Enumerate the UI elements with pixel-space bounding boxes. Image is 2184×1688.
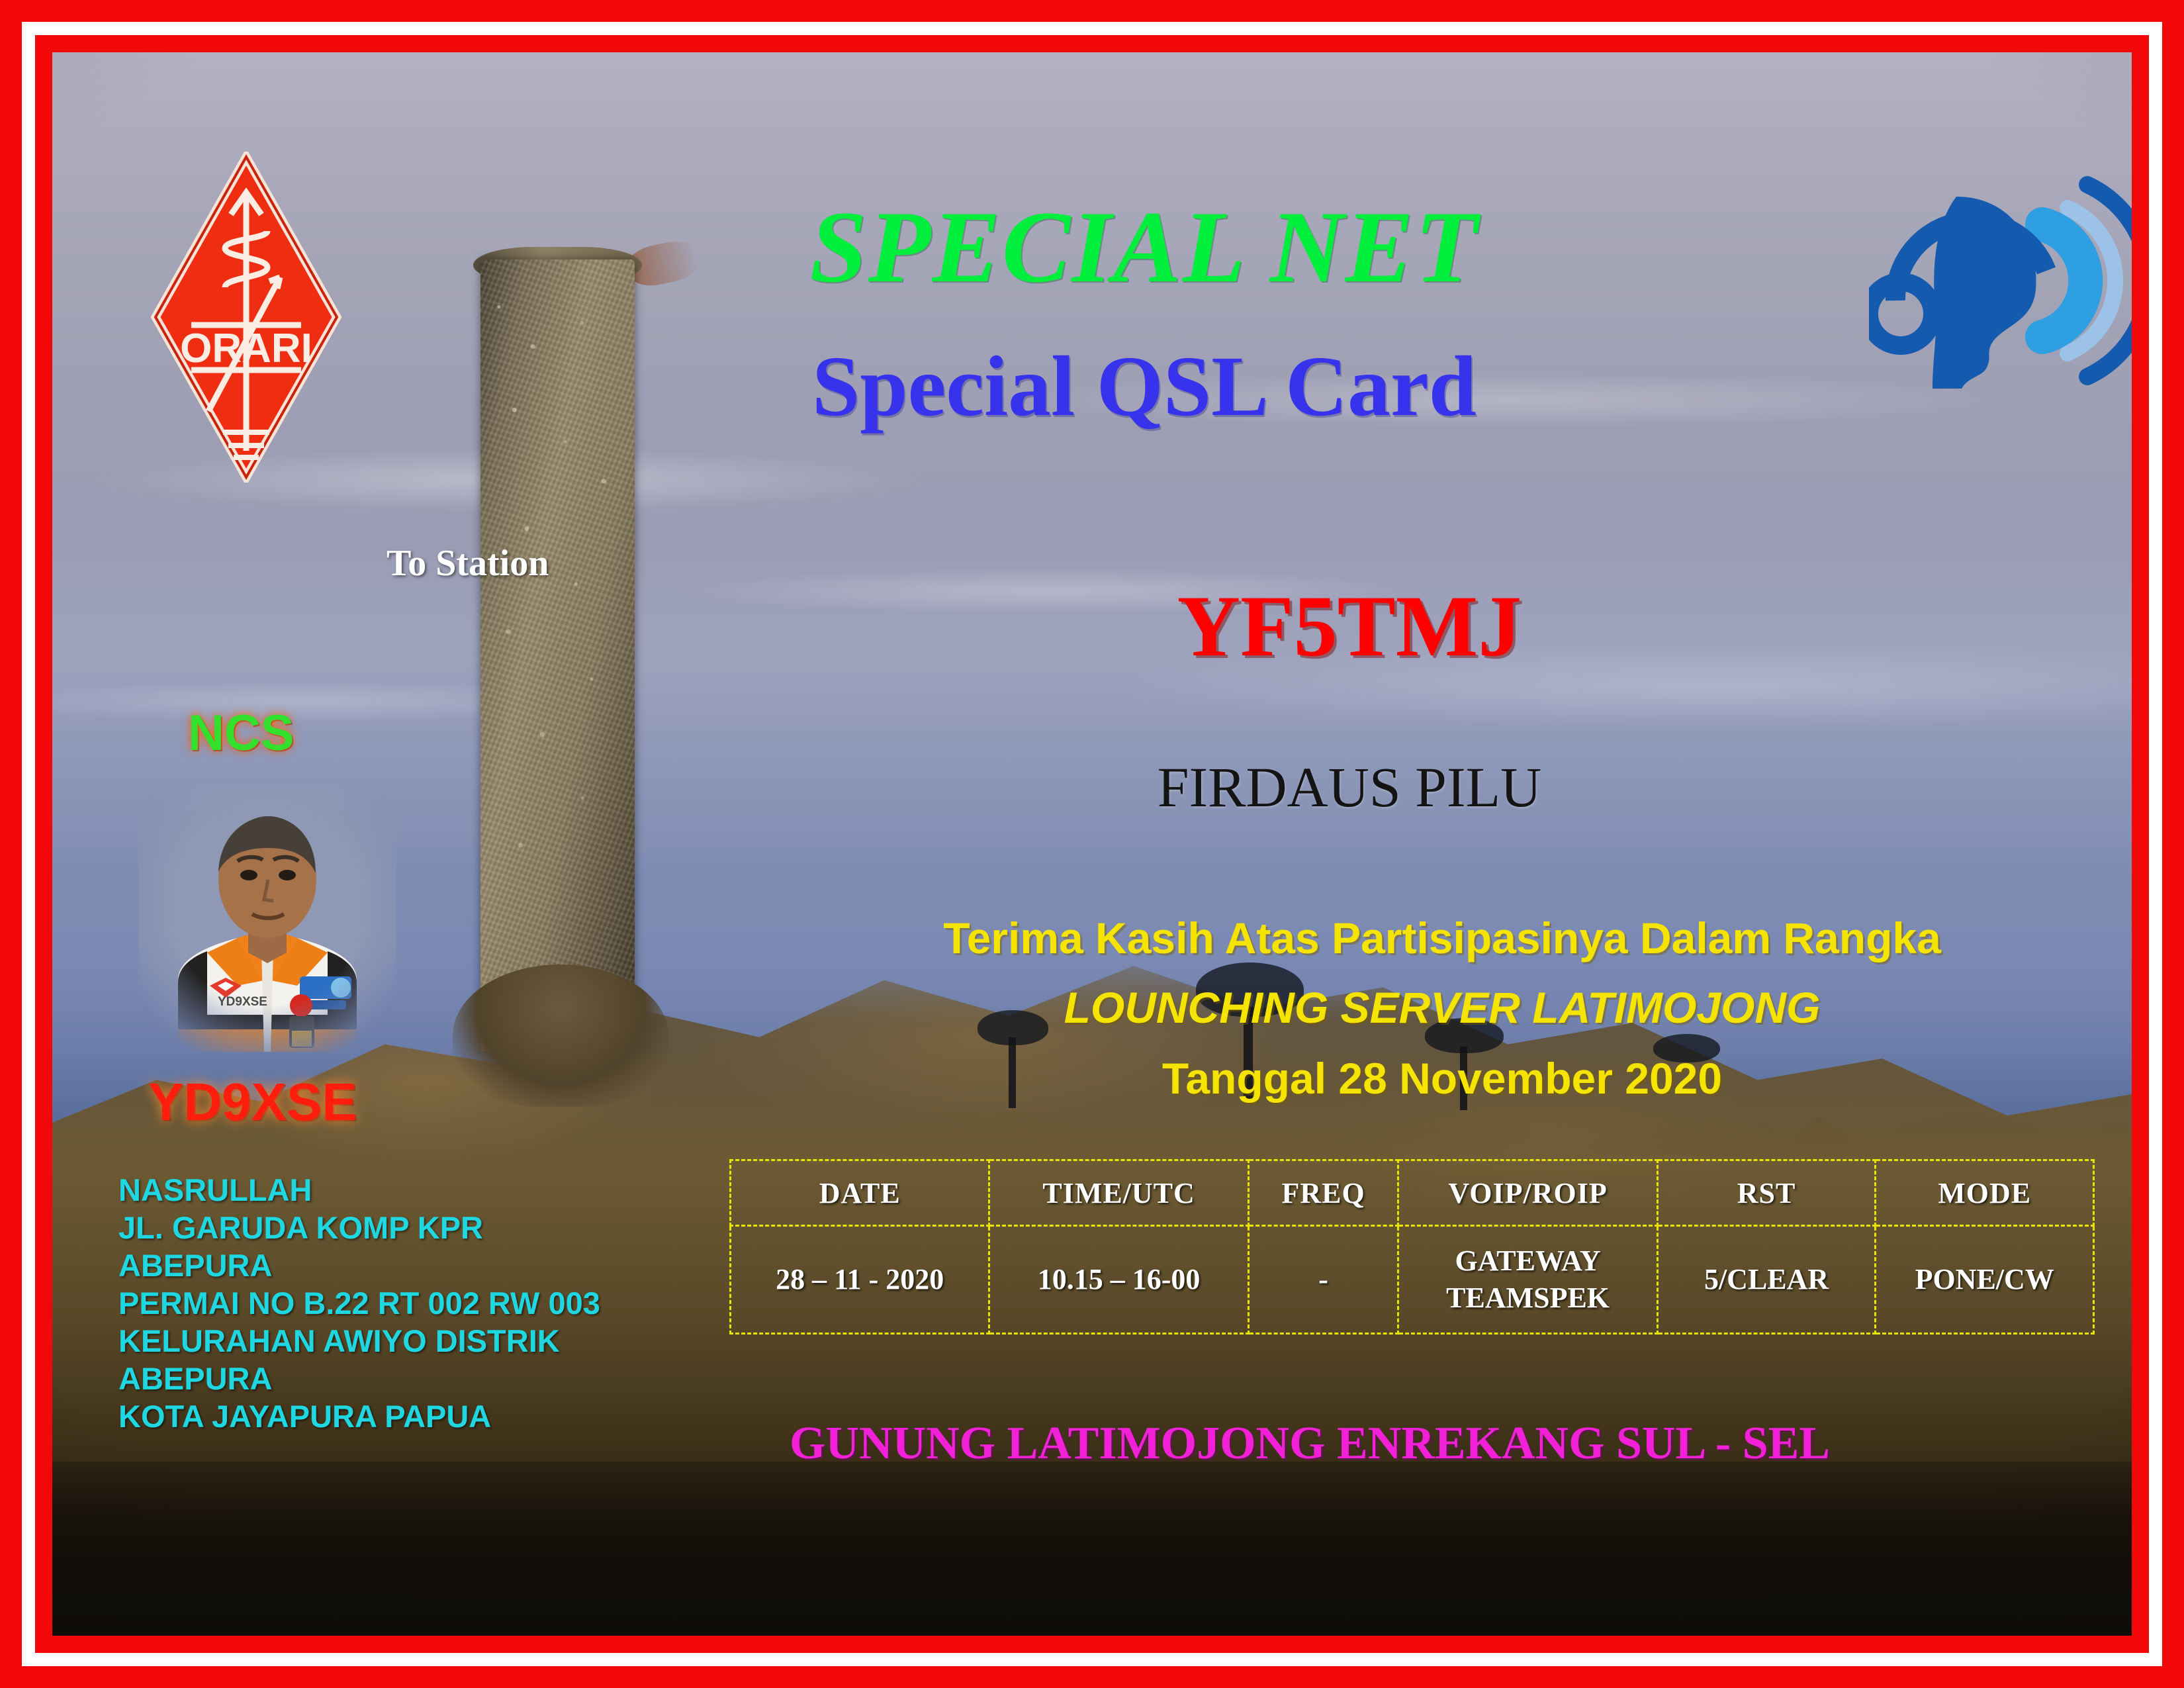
- thanks-line-1: Terima Kasih Atas Partisipasinya Dalam R…: [794, 913, 2091, 963]
- column-header-time: TIME/UTC: [989, 1160, 1248, 1226]
- thanks-line-3: Tanggal 28 November 2020: [794, 1053, 2091, 1103]
- cell-date: 28 – 11 - 2020: [731, 1226, 989, 1334]
- address-line: NASRULLAH: [118, 1171, 714, 1209]
- address-line: ABEPURA: [118, 1360, 714, 1397]
- address-line: PERMAI NO B.22 RT 002 RW 003: [118, 1284, 714, 1322]
- mailing-address: NASRULLAH JL. GARUDA KOMP KPR ABEPURA PE…: [118, 1171, 714, 1435]
- cell-voip-roip-line1: GATEWAY: [1399, 1243, 1656, 1280]
- website-address: Address : amatir.latimojong.com: [1330, 1631, 1997, 1636]
- qsl-card: ORARI SPECIAL NET: [0, 0, 2184, 1688]
- photo-bottom-shadow-band: [52, 1462, 2132, 1636]
- table-row: 28 – 11 - 2020 10.15 – 16-00 - GATEWAY T…: [731, 1226, 2094, 1334]
- operator-name: FIRDAUS PILU: [959, 754, 1740, 820]
- cell-rst: 5/CLEAR: [1657, 1226, 1876, 1334]
- column-header-voip-roip: VOIP/ROIP: [1398, 1160, 1657, 1226]
- page-subtitle: Special QSL Card: [52, 337, 2132, 436]
- column-header-freq: FREQ: [1248, 1160, 1398, 1226]
- card-white-gap: ORARI SPECIAL NET: [22, 22, 2162, 1666]
- cell-time: 10.15 – 16-00: [989, 1226, 1248, 1334]
- ncs-callsign: YD9XSE: [148, 1072, 357, 1133]
- to-station-label: To Station: [387, 542, 549, 585]
- address-line: ABEPURA: [118, 1246, 714, 1284]
- cell-mode: PONE/CW: [1876, 1226, 2094, 1334]
- address-line: JL. GARUDA KOMP KPR: [118, 1209, 714, 1246]
- ncs-label: NCS: [188, 704, 294, 762]
- card-inner-red-border: ORARI SPECIAL NET: [35, 35, 2149, 1653]
- card-photo-area: ORARI SPECIAL NET: [52, 52, 2132, 1636]
- cell-voip-roip: GATEWAY TEAMSPEK: [1398, 1226, 1657, 1334]
- cell-freq: -: [1248, 1226, 1398, 1334]
- ncs-photo-badge-callsign: YD9XSE: [218, 995, 267, 1009]
- qso-log-table: DATE TIME/UTC FREQ VOIP/ROIP RST MODE 28…: [729, 1159, 2095, 1335]
- station-callsign: YF5TMJ: [959, 575, 1740, 677]
- location-caption: GUNUNG LATIMOJONG ENREKANG SUL - SEL: [674, 1417, 1945, 1470]
- column-header-date: DATE: [731, 1160, 989, 1226]
- address-line: KELURAHAN AWIYO DISTRIK: [118, 1322, 714, 1360]
- cell-voip-roip-line2: TEAMSPEK: [1399, 1280, 1656, 1317]
- address-line: KOTA JAYAPURA PAPUA: [118, 1397, 714, 1435]
- club-motto: "AMATIR RADIO ADALAH PROGRESIVE": [132, 1631, 1115, 1636]
- page-title: SPECIAL NET: [52, 188, 2132, 306]
- table-header-row: DATE TIME/UTC FREQ VOIP/ROIP RST MODE: [731, 1160, 2094, 1226]
- column-header-rst: RST: [1657, 1160, 1876, 1226]
- thanks-line-2: LOUNCHING SERVER LATIMOJONG: [794, 982, 2091, 1033]
- ncs-operator-photo: YD9XSE: [138, 787, 396, 1052]
- column-header-mode: MODE: [1876, 1160, 2094, 1226]
